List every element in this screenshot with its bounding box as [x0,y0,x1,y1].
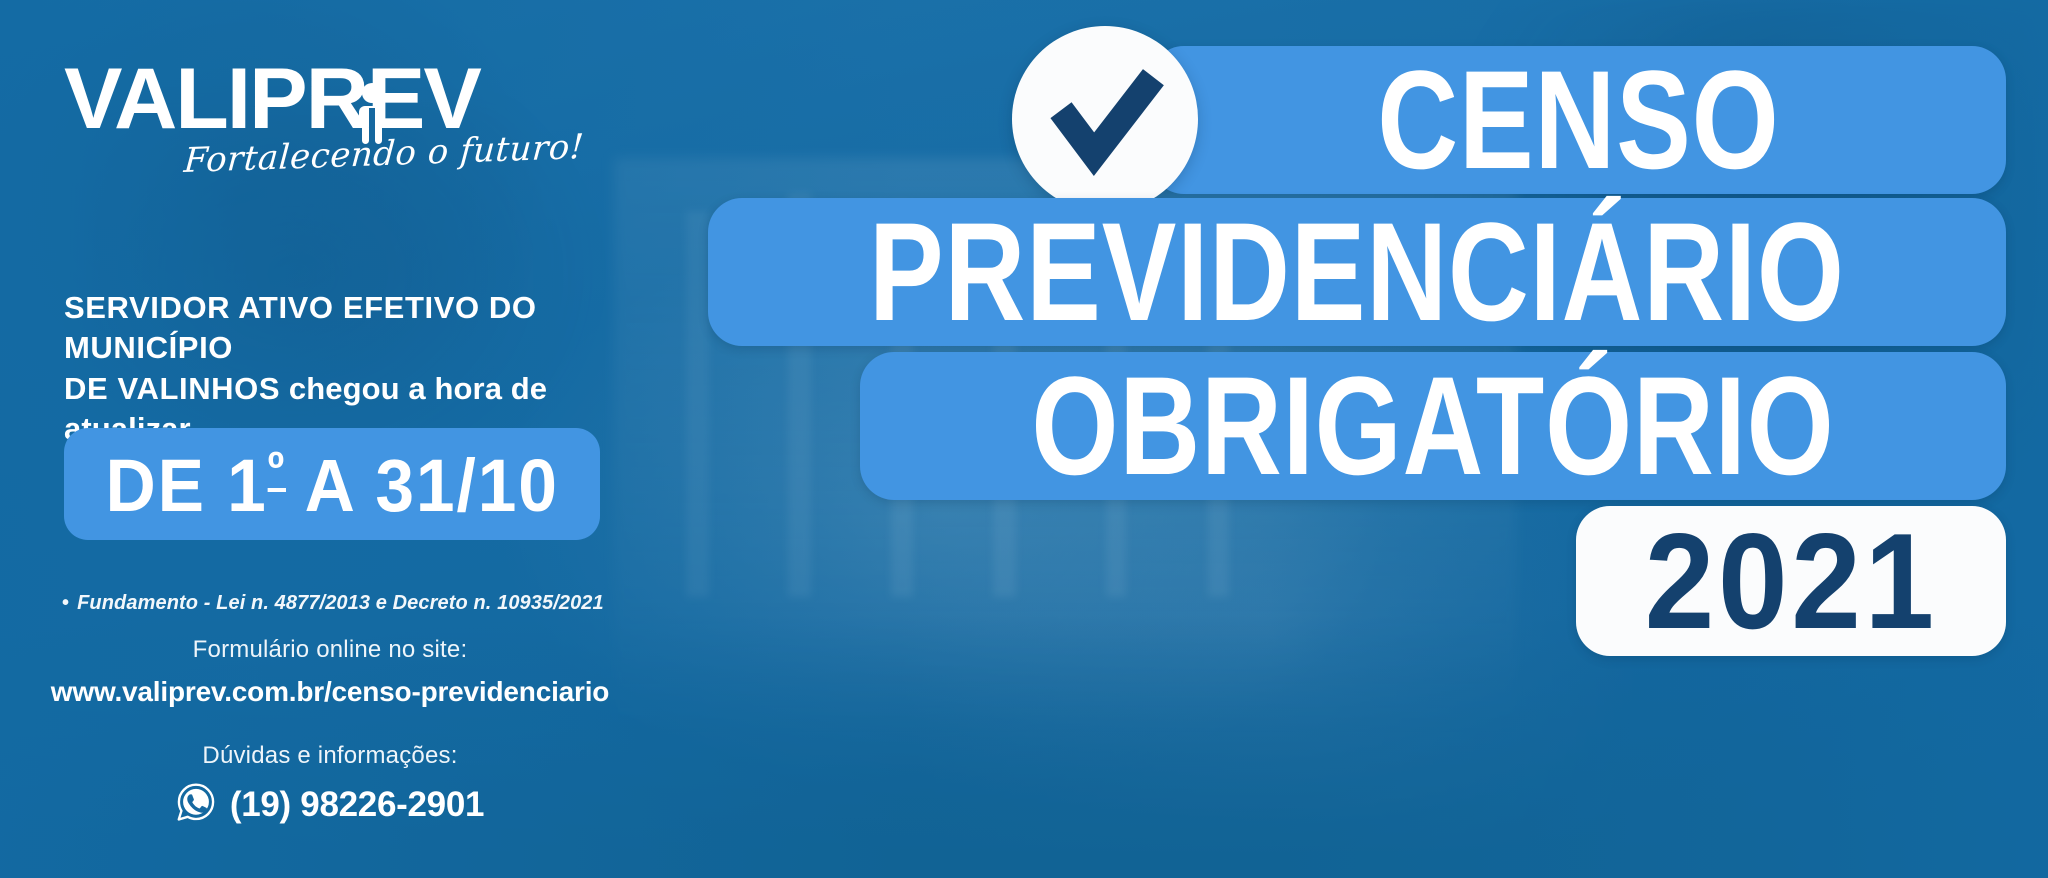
phone-number: (19) 98226-2901 [230,785,484,825]
year-text: 2021 [1644,516,1937,647]
headline-line-1: SERVIDOR ATIVO EFETIVO DO MUNICÍPIO [64,288,624,369]
date-prefix: DE 1 [105,444,267,527]
previdenciario-text: PREVIDENCIÁRIO [869,205,1845,339]
help-label: Dúvidas e informações: [0,742,660,770]
phone-row[interactable]: (19) 98226-2901 [0,782,660,827]
bullet-icon: • [62,592,69,614]
site-url[interactable]: www.valiprev.com.br/censo-previdenciario [0,676,660,708]
left-content-column: VALIPREV Fortalecendo o futuro! SERVIDOR… [0,0,660,878]
previdenciario-chip: PREVIDENCIÁRIO [708,198,2006,346]
headline-line-1-text: SERVIDOR ATIVO EFETIVO DO MUNICÍPIO [64,290,537,365]
censo-text: CENSO [1377,53,1779,187]
legal-reference: •Fundamento - Lei n. 4877/2013 e Decreto… [62,592,622,615]
obrigatorio-text: OBRIGATÓRIO [1031,359,1834,493]
censo-chip: CENSO [1150,46,2006,194]
date-range-badge: DE 1º A 31/10 [64,428,600,540]
site-label: Formulário online no site: [0,636,660,664]
date-suffix: A 31/10 [286,444,559,527]
year-chip: 2021 [1576,506,2006,656]
title-stack: CENSO PREVIDENCIÁRIO OBRIGATÓRIO 2021 [660,0,2048,878]
obrigatorio-chip: OBRIGATÓRIO [860,352,2006,500]
date-ordinal: º [267,443,285,496]
logo-wordmark: VALIPREV [64,60,492,139]
headline-line-2-caps: DE VALINHOS [64,371,280,406]
legal-reference-text: Fundamento - Lei n. 4877/2013 e Decreto … [77,592,604,614]
date-range-text: DE 1º A 31/10 [105,446,558,523]
whatsapp-icon [176,782,216,827]
valiprev-logo: VALIPREV Fortalecendo o futuro! [64,60,484,181]
check-circle-icon [1012,26,1198,212]
censo-banner: VALIPREV Fortalecendo o futuro! SERVIDOR… [0,0,2048,878]
